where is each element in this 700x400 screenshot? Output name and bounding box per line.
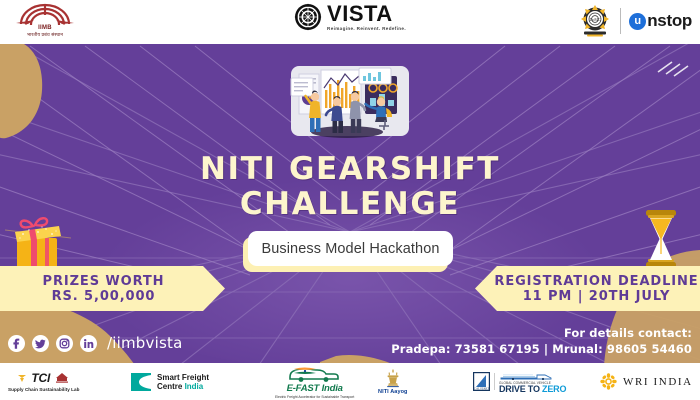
unstop-badge: u: [629, 13, 646, 30]
gear-seal-icon: DoMC: [578, 4, 612, 38]
vista-tagline: Reimagine. Reinvent. Redefine.: [327, 26, 406, 31]
efast-name: E-FAST India: [287, 383, 343, 394]
tci-caption: Supply Chain Sustainability Lab: [8, 387, 80, 392]
sponsor-efast-india: E-FAST India Electric Freight Accelerato…: [275, 363, 354, 400]
facebook-icon[interactable]: [8, 335, 25, 352]
iimb-subtitle: भारतीय प्रबंध संस्थान: [27, 32, 63, 38]
subtitle-text: Business Model Hackathon: [248, 231, 453, 266]
sponsor-smart-freight-centre: Smart Freight Centre India: [130, 363, 209, 400]
header-partner-logos: DoMC u nstop: [578, 4, 692, 38]
efast-caption: Electric Freight Accelerator for Sustain…: [275, 395, 354, 399]
subtitle-badge: Business Model Hackathon: [248, 231, 453, 268]
svg-text:DoMC: DoMC: [590, 17, 601, 22]
vista-seal-icon: [294, 3, 322, 31]
niti-aayog-emblem-icon: [384, 368, 402, 388]
title-line-2: CHALLENGE: [0, 187, 700, 222]
sfc-name-line1: Smart Freight: [157, 373, 209, 382]
linkedin-icon[interactable]: [80, 335, 97, 352]
dtz-name-accent: ZERO: [542, 384, 566, 394]
tci-foundation-icon: [54, 372, 70, 384]
drive-to-zero-mark-icon: CALSTART: [473, 372, 490, 391]
sponsor-drive-to-zero: CALSTART GLOBAL COMMERCIAL VEHICLE DRIVE…: [473, 363, 566, 400]
vista-name: VISTA: [327, 3, 406, 25]
svg-text:CALSTART: CALSTART: [474, 386, 489, 390]
wri-india-icon: [600, 373, 617, 390]
dtz-divider: [494, 373, 495, 390]
business-analytics-team-illustration: [285, 58, 415, 148]
deadline-ribbon: REGISTRATION DEADLINE 11 PM | 20TH JULY: [475, 266, 700, 311]
sfc-name-accent: India: [185, 382, 204, 391]
sponsor-strip: TCI Supply Chain Sustainability Lab: [0, 363, 700, 400]
efast-india-icon: [286, 365, 344, 383]
unstop-logo: u nstop: [629, 11, 692, 31]
tci-name: TCI: [31, 371, 50, 385]
drive-to-zero-truck-icon: [499, 371, 555, 380]
social-bar: /iimbvista: [8, 334, 182, 352]
title-line-1: NITI GEARSHIFT: [0, 152, 700, 187]
contact-details: Pradepa: 73581 67195 | Mrunal: 98605 544…: [391, 341, 692, 357]
poster-canvas: IIMB भारतीय प्रबंध संस्थान: [0, 0, 700, 400]
instagram-icon[interactable]: [56, 335, 73, 352]
smart-freight-centre-icon: [130, 372, 152, 392]
header-bar: IIMB भारतीय प्रबंध संस्थान: [0, 0, 700, 44]
prizes-amount: RS. 5,00,000: [52, 289, 156, 304]
twitter-icon[interactable]: [32, 335, 49, 352]
wri-india-name: WRI INDIA: [623, 376, 693, 388]
prizes-label: PRIZES WORTH: [43, 274, 165, 289]
unstop-wordmark: nstop: [647, 11, 692, 31]
tci-mark-icon: [17, 373, 27, 383]
header-divider: [620, 8, 621, 34]
contact-block: For details contact: Pradepa: 73581 6719…: [391, 326, 692, 357]
niti-aayog-name: NITI Aayog: [378, 389, 408, 395]
sfc-name-line2: Centre: [157, 382, 185, 391]
deadline-value: 11 PM | 20TH JULY: [523, 289, 671, 304]
deadline-label: REGISTRATION DEADLINE: [494, 274, 698, 289]
contact-heading: For details contact:: [391, 326, 692, 341]
dtz-name-line2: DRIVE TO: [499, 384, 542, 394]
sponsor-wri-india: WRI INDIA: [600, 363, 693, 400]
main-title: NITI GEARSHIFT CHALLENGE: [0, 152, 700, 222]
sponsor-tci: TCI Supply Chain Sustainability Lab: [8, 363, 80, 400]
social-handle[interactable]: /iimbvista: [107, 334, 182, 352]
sponsor-niti-aayog: NITI Aayog: [378, 363, 408, 400]
prizes-ribbon: PRIZES WORTH RS. 5,00,000: [0, 266, 225, 311]
